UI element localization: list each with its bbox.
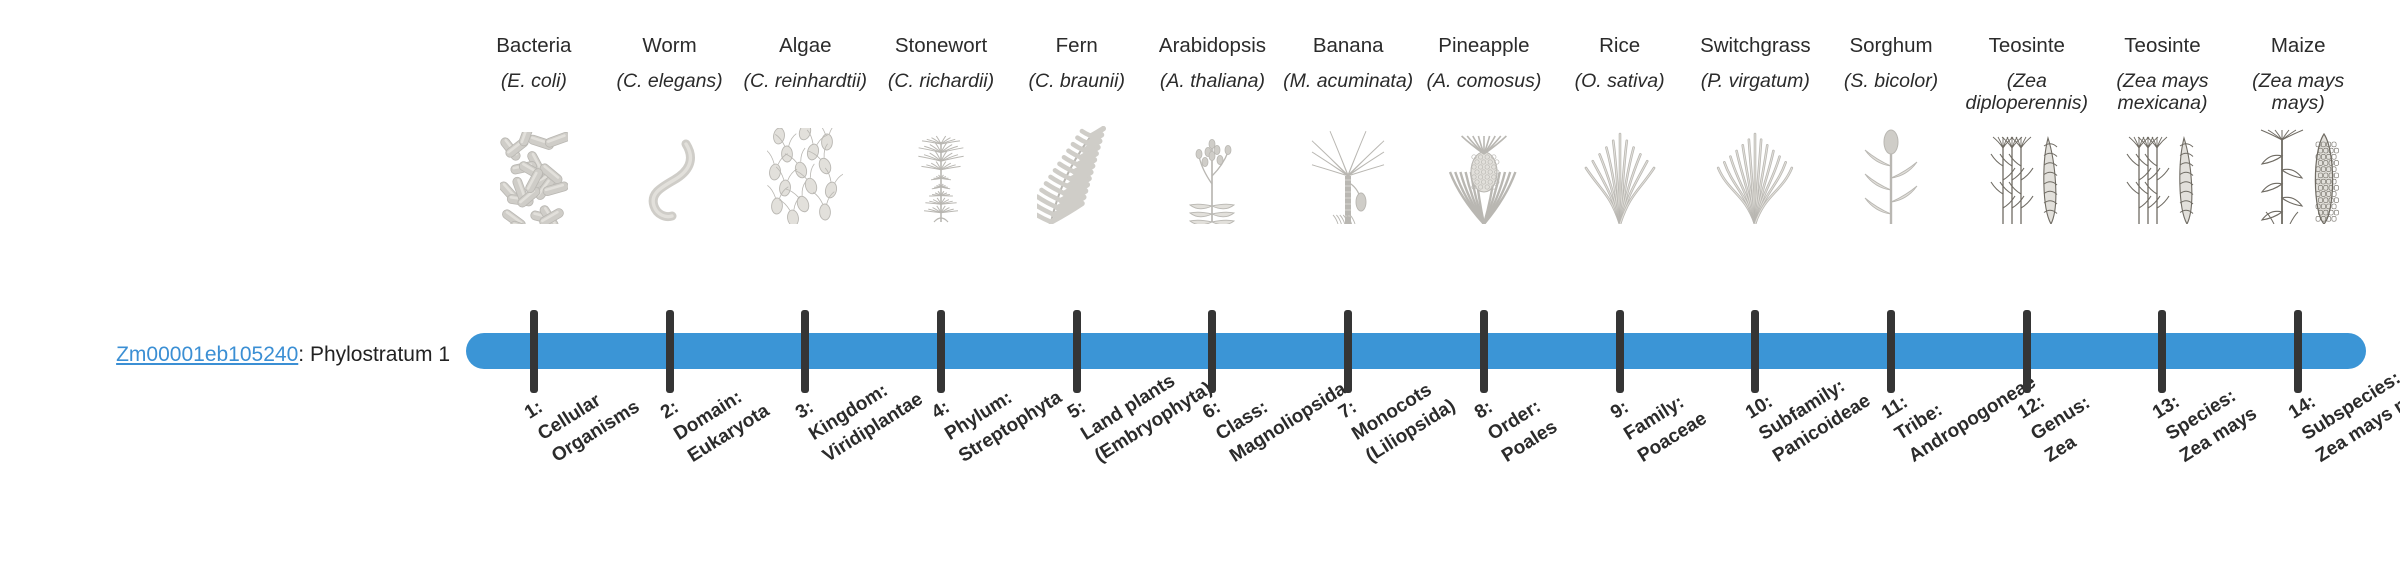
teosinte-plant-and-ear-icon	[1959, 124, 2095, 224]
species-scientific-name: (E. coli)	[466, 70, 602, 118]
arabidopsis-rosette-icon	[1145, 124, 1281, 224]
species-scientific-name-text: (M. acuminata)	[1283, 70, 1413, 92]
species-scientific-name-text: (C. elegans)	[616, 70, 722, 92]
species-scientific-name: (C. richardii)	[873, 70, 1009, 118]
species-column: Fern(C. braunii)	[1009, 34, 1145, 299]
species-common-name: Pineapple	[1438, 34, 1529, 60]
phylostratum-tick	[666, 310, 674, 393]
phylostratum-tick	[937, 310, 945, 393]
phylostratigraphy-figure: Zm00001eb105240: Phylostratum 1 Bacteria…	[0, 0, 2400, 580]
species-scientific-name: (P. virgatum)	[1687, 70, 1823, 118]
species-column: Sorghum(S. bicolor)	[1823, 34, 1959, 299]
species-column: Pineapple(A. comosus)	[1416, 34, 1552, 299]
species-common-name: Rice	[1599, 34, 1640, 60]
species-common-name: Teosinte	[2124, 34, 2200, 60]
species-common-name: Banana	[1313, 34, 1384, 60]
phylostratum-tick	[1073, 310, 1081, 393]
phylostratum-tick	[1208, 310, 1216, 393]
phylostratum-tick	[1887, 310, 1895, 393]
species-scientific-name: (Zea diploperennis)	[1959, 70, 2095, 118]
gene-phylostratum-label: Zm00001eb105240: Phylostratum 1	[30, 343, 450, 367]
phylostratum-tick	[530, 310, 538, 393]
phylostratum-tick	[1344, 310, 1352, 393]
pineapple-plant-icon	[1416, 124, 1552, 224]
phylostratum-value: Phylostratum 1	[310, 343, 450, 366]
species-column: Banana(M. acuminata)	[1280, 34, 1416, 299]
species-column: Switchgrass(P. virgatum)	[1687, 34, 1823, 299]
species-scientific-name-text: (E. coli)	[501, 70, 567, 92]
phylostratum-tick	[1616, 310, 1624, 393]
species-scientific-name-text: (Zea mays mays)	[2230, 70, 2366, 114]
species-scientific-name-text: (C. braunii)	[1029, 70, 1125, 92]
green-algae-cells-icon	[737, 124, 873, 224]
phylostratum-tick	[801, 310, 809, 393]
species-scientific-name: (A. comosus)	[1416, 70, 1552, 118]
stonewort-icon	[873, 124, 1009, 224]
species-column: Rice(O. sativa)	[1552, 34, 1688, 299]
bacteria-rods-icon	[466, 124, 602, 224]
phylostratum-tick	[1480, 310, 1488, 393]
species-column: Maize(Zea mays mays)	[2230, 34, 2366, 299]
species-common-name: Switchgrass	[1700, 34, 1811, 60]
rank-labels: 1: Cellular Organisms2: Domain: Eukaryot…	[466, 404, 2366, 580]
species-column: Bacteria(E. coli)	[466, 34, 602, 299]
species-common-name: Arabidopsis	[1159, 34, 1266, 60]
species-column: Teosinte(Zea diploperennis)	[1959, 34, 2095, 299]
species-common-name: Stonewort	[895, 34, 987, 60]
phylostratum-tick	[2023, 310, 2031, 393]
species-scientific-name: (Zea mays mays)	[2230, 70, 2366, 118]
species-column: Stonewort(C. richardii)	[873, 34, 1009, 299]
gene-id-link[interactable]: Zm00001eb105240	[116, 343, 298, 366]
species-scientific-name: (A. thaliana)	[1145, 70, 1281, 118]
species-scientific-name: (C. elegans)	[602, 70, 738, 118]
banana-plant-icon	[1280, 124, 1416, 224]
species-scientific-name: (O. sativa)	[1552, 70, 1688, 118]
rice-plant-icon	[1552, 124, 1688, 224]
species-common-name: Bacteria	[496, 34, 571, 60]
teosinte-plant-and-ear-icon	[2095, 124, 2231, 224]
species-column: Teosinte(Zea mays mexicana)	[2095, 34, 2231, 299]
phylostratum-tick	[1751, 310, 1759, 393]
species-row: Bacteria(E. coli)Worm(C. elegans)Algae(C…	[466, 34, 2366, 299]
switchgrass-icon	[1687, 124, 1823, 224]
maize-plant-and-ear-icon	[2230, 124, 2366, 224]
species-common-name: Worm	[642, 34, 696, 60]
species-scientific-name-text: (S. bicolor)	[1844, 70, 1938, 92]
species-scientific-name-text: (O. sativa)	[1575, 70, 1665, 92]
gene-label-separator: :	[298, 343, 310, 366]
nematode-worm-icon	[602, 124, 738, 224]
species-scientific-name-text: (A. comosus)	[1426, 70, 1541, 92]
species-scientific-name-text: (C. richardii)	[888, 70, 994, 92]
species-common-name: Maize	[2271, 34, 2326, 60]
species-scientific-name: (S. bicolor)	[1823, 70, 1959, 118]
phylostratum-tick	[2294, 310, 2302, 393]
species-scientific-name-text: (P. virgatum)	[1701, 70, 1810, 92]
species-scientific-name: (M. acuminata)	[1280, 70, 1416, 118]
fern-frond-icon	[1009, 124, 1145, 224]
species-scientific-name: (Zea mays mexicana)	[2095, 70, 2231, 118]
species-scientific-name: (C. reinhardtii)	[737, 70, 873, 118]
species-common-name: Teosinte	[1989, 34, 2065, 60]
species-common-name: Algae	[779, 34, 831, 60]
species-scientific-name-text: (Zea diploperennis)	[1959, 70, 2095, 114]
species-scientific-name-text: (Zea mays mexicana)	[2095, 70, 2231, 114]
species-scientific-name-text: (A. thaliana)	[1160, 70, 1265, 92]
species-scientific-name: (C. braunii)	[1009, 70, 1145, 118]
species-column: Worm(C. elegans)	[602, 34, 738, 299]
sorghum-plant-icon	[1823, 124, 1959, 224]
species-scientific-name-text: (C. reinhardtii)	[744, 70, 868, 92]
species-common-name: Fern	[1056, 34, 1098, 60]
phylostratum-tick	[2158, 310, 2166, 393]
species-column: Arabidopsis(A. thaliana)	[1145, 34, 1281, 299]
species-column: Algae(C. reinhardtii)	[737, 34, 873, 299]
species-common-name: Sorghum	[1849, 34, 1932, 60]
